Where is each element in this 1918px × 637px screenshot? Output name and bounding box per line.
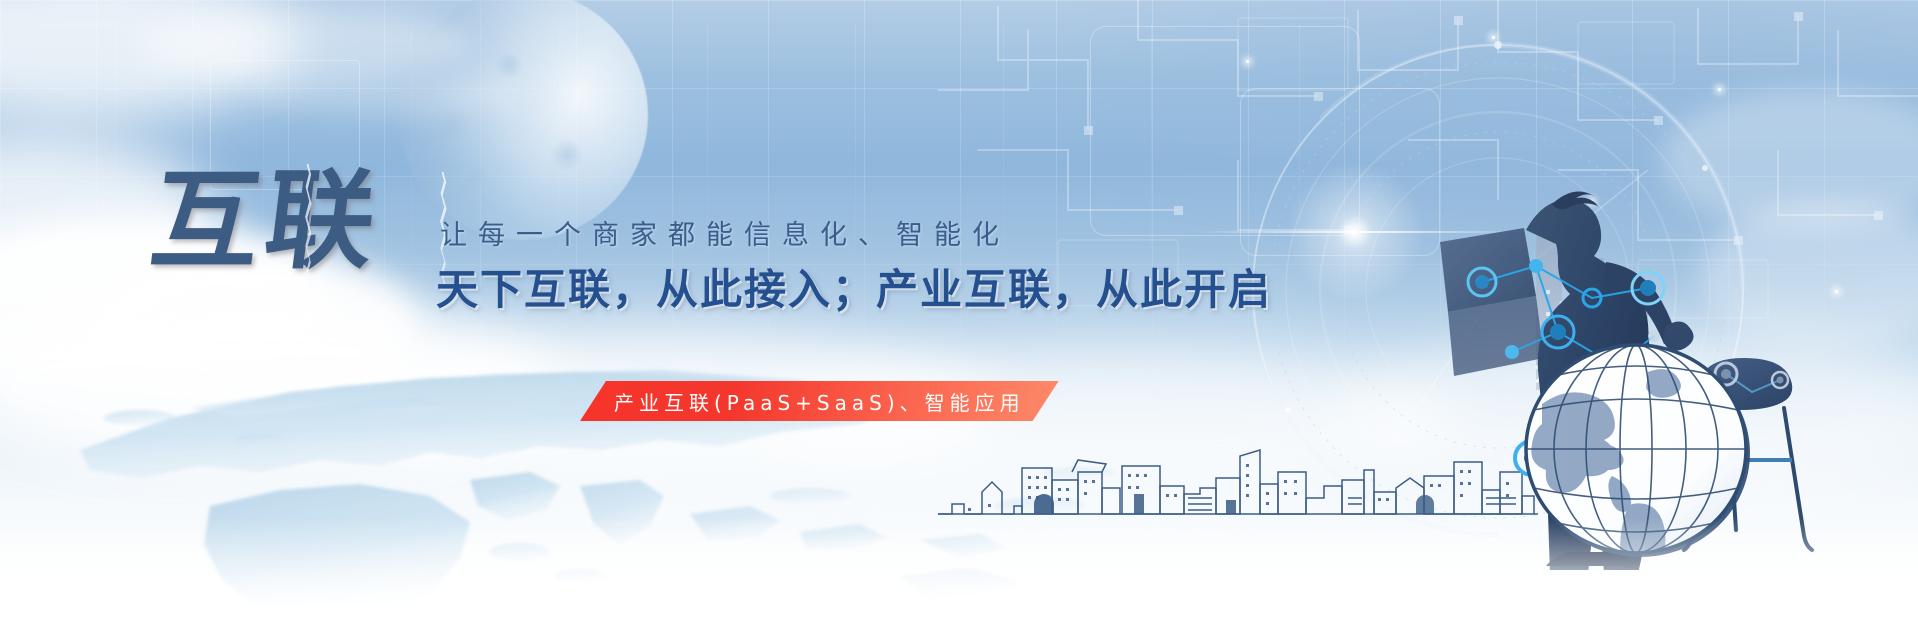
badge-product-suite[interactable]: 产业互联(PaaS+SaaS)、智能应用 bbox=[580, 381, 1059, 421]
tagline-secondary: 天下互联，从此接入；产业互联，从此开启 bbox=[436, 256, 1272, 317]
sparkle-icon bbox=[1352, 230, 1357, 235]
sparkle-icon bbox=[1718, 88, 1721, 91]
cloud-icon bbox=[140, 10, 470, 80]
sparkle-icon bbox=[1492, 36, 1495, 39]
wireframe-globe-icon bbox=[1520, 338, 1752, 560]
badge-label: 产业互联(PaaS+SaaS)、智能应用 bbox=[614, 387, 1025, 416]
sparkle-icon bbox=[1246, 60, 1249, 63]
tagline-primary: 让每一个商家都能信息化、智能化 bbox=[440, 213, 1010, 252]
hero-banner: 互联 让每一个商家都能信息化、智能化 天下互联，从此接入；产业互联，从此开启 产… bbox=[0, 0, 1918, 637]
page-title: 互联 bbox=[145, 168, 386, 276]
cloud-icon bbox=[250, 70, 530, 116]
